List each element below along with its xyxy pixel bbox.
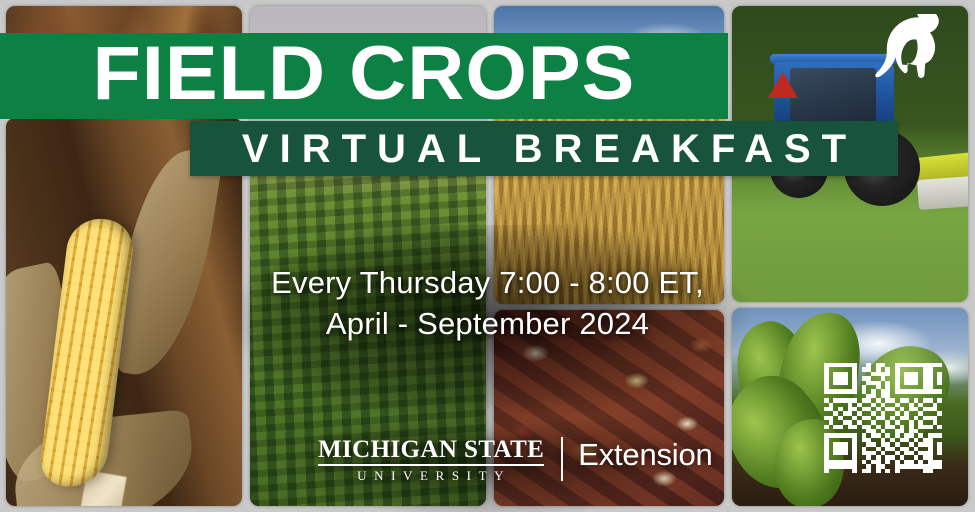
title-band: FIELD CROPS [0, 33, 728, 119]
field-crops-virtual-breakfast-poster: FIELD CROPS VIRTUAL BREAKFAST Every Thur… [0, 0, 975, 512]
msu-unit-name: Extension [578, 439, 712, 470]
mower-deck [917, 176, 968, 210]
schedule-text: Every Thursday 7:00 - 8:00 ET, April - S… [0, 262, 975, 344]
tractor-warning-triangle [768, 72, 798, 98]
msu-wordmark: MICHIGAN STATE UNIVERSITY [318, 437, 544, 482]
qr-code[interactable] [824, 363, 942, 473]
subtitle-band: VIRTUAL BREAKFAST [190, 121, 898, 176]
msu-university-line-2: UNIVERSITY [318, 469, 544, 482]
msu-university-line-1: MICHIGAN STATE [318, 437, 544, 462]
spartan-helmet-icon [868, 14, 952, 94]
page-subtitle: VIRTUAL BREAKFAST [231, 129, 857, 169]
msu-logo-divider [561, 437, 563, 481]
schedule-line-2: April - September 2024 [0, 303, 975, 344]
page-title: FIELD CROPS [93, 36, 636, 116]
msu-logo-rule [318, 464, 544, 466]
qr-code-modules [824, 363, 942, 473]
msu-extension-logo: MICHIGAN STATE UNIVERSITY Extension [318, 437, 713, 482]
schedule-line-1: Every Thursday 7:00 - 8:00 ET, [0, 262, 975, 303]
tractor-cab [790, 68, 876, 122]
